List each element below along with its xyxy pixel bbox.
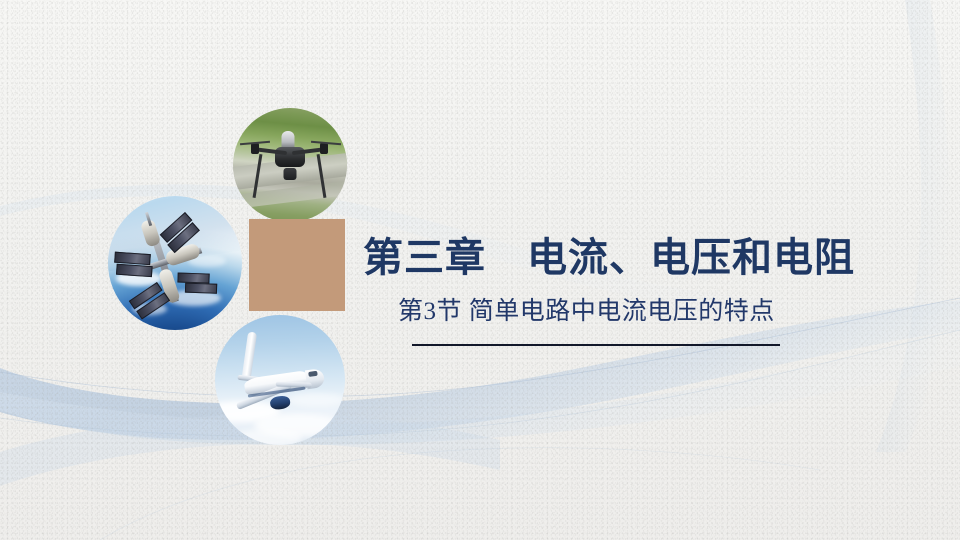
drone-landing-leg	[252, 154, 262, 198]
solar-panel	[185, 283, 217, 294]
drone-gimbal	[284, 168, 297, 180]
solar-panel	[177, 272, 209, 283]
solar-panel	[116, 264, 153, 277]
slide-subtitle: 第3节 简单电路中电流电压的特点	[398, 299, 775, 324]
drone-motor	[251, 143, 259, 154]
airplane-model	[215, 315, 345, 445]
drone-landing-leg	[316, 154, 326, 198]
drone-motor	[320, 143, 328, 154]
title-slide: 第三章 电流、电压和电阻 第3节 简单电路中电流电压的特点	[0, 0, 960, 540]
tan-concave-square-decoration	[249, 219, 345, 311]
slide-title: 第三章 电流、电压和电阻	[363, 238, 855, 278]
drone-photo	[233, 108, 347, 222]
space-station-photo	[108, 196, 242, 330]
drone-model	[233, 108, 347, 222]
airplane-tailfin	[242, 332, 257, 377]
title-divider-rule	[412, 344, 780, 346]
airplane-engine	[269, 394, 291, 410]
airplane-photo	[215, 315, 345, 445]
